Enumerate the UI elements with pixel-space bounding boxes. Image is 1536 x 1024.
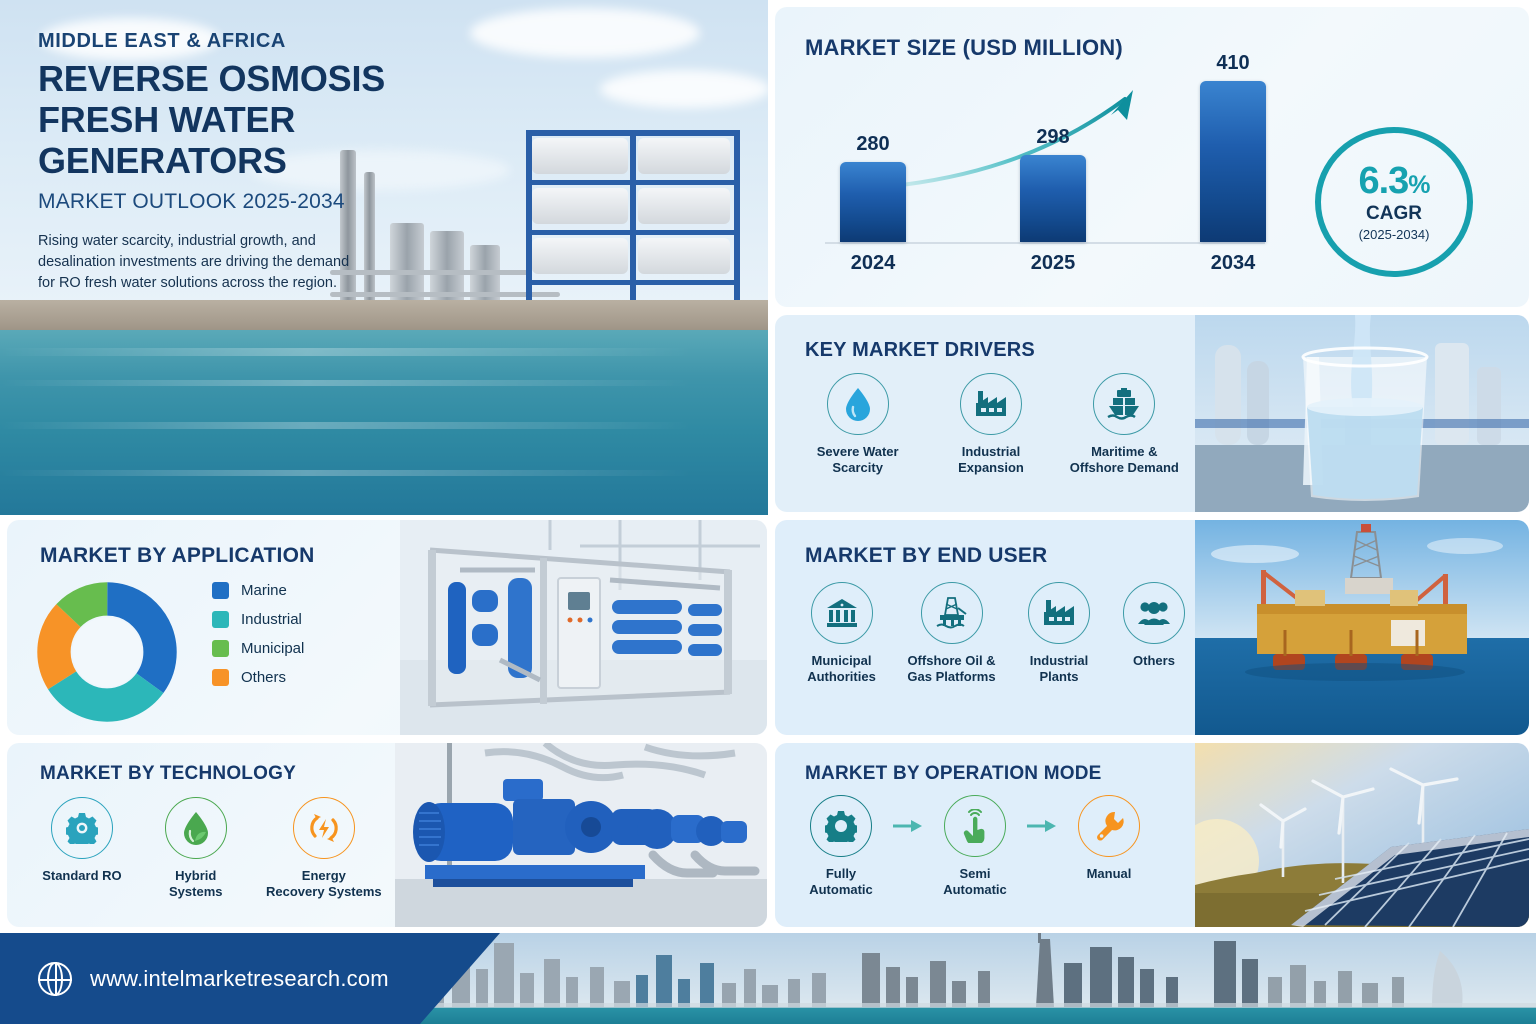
water-drop-icon	[827, 373, 889, 435]
end-user-photo-offshore-rig	[1195, 520, 1529, 735]
drivers-photo-water-glass	[1195, 315, 1529, 512]
technology-item-hybrid-systems[interactable]: HybridSystems	[139, 797, 253, 900]
operation-mode-list: FullyAutomatic SemiAutomatic Manual	[791, 795, 1159, 898]
end-user-item-municipal-authorities[interactable]: MunicipalAuthorities	[792, 582, 892, 685]
bar-year-2025: 2025	[1020, 252, 1086, 275]
end-user-label-line2: Gas Platforms	[907, 669, 995, 684]
factory-icon	[960, 373, 1022, 435]
arrow-right-icon	[1025, 795, 1059, 857]
hero-kicker: MIDDLE EAST & AFRICA	[38, 30, 468, 53]
application-donut-chart	[37, 582, 177, 722]
leaf-drop-icon	[165, 797, 227, 859]
oil-rig-icon	[921, 582, 983, 644]
bar-value-2034: 410	[1200, 52, 1266, 75]
market-by-application-panel: MARKET BY APPLICATION Marine Industrial	[7, 520, 767, 735]
technology-list: Standard RO HybridSystems EnergyRecovery…	[25, 797, 395, 900]
key-market-drivers-panel: KEY MARKET DRIVERS Severe WaterScarcity …	[775, 315, 1529, 512]
market-size-panel: MARKET SIZE (USD MILLION) 280 2024	[775, 7, 1529, 307]
bar-rect-2025	[1020, 155, 1086, 242]
touch-hand-icon	[944, 795, 1006, 857]
bar-2024: 280 2024	[840, 162, 906, 242]
technology-item-energy-recovery[interactable]: EnergyRecovery Systems	[253, 797, 395, 900]
bar-2025: 298 2025	[1020, 155, 1086, 242]
legend-swatch-municipal	[212, 640, 229, 657]
people-group-icon	[1123, 582, 1185, 644]
factory-icon	[1028, 582, 1090, 644]
cagr-value-wrap: 6.3%	[1358, 162, 1429, 200]
bar-value-2025: 298	[1020, 126, 1086, 149]
operation-mode-label-line1: Fully	[826, 866, 856, 881]
operation-mode-item-manual[interactable]: Manual	[1059, 795, 1159, 882]
legend-label-marine: Marine	[241, 582, 287, 599]
legend-label-industrial: Industrial	[241, 611, 302, 628]
driver-label-line1: Maritime &	[1091, 444, 1157, 459]
footer-bar: www.intelmarketresearch.com	[0, 933, 1536, 1024]
market-by-operation-mode-panel: MARKET BY OPERATION MODE FullyAutomatic …	[775, 743, 1529, 927]
legend-swatch-marine	[212, 582, 229, 599]
legend-swatch-industrial	[212, 611, 229, 628]
operation-mode-item-semi-automatic[interactable]: SemiAutomatic	[925, 795, 1025, 898]
driver-item-water-scarcity[interactable]: Severe WaterScarcity	[798, 373, 918, 476]
hero-subtitle: MARKET OUTLOOK 2025-2034	[38, 190, 468, 214]
legend-label-municipal: Municipal	[241, 640, 304, 657]
driver-item-industrial-expansion[interactable]: IndustrialExpansion	[931, 373, 1051, 476]
market-size-title: MARKET SIZE (USD MILLION)	[805, 35, 1123, 61]
legend-item-others[interactable]: Others	[212, 669, 304, 686]
driver-label-line2: Scarcity	[832, 460, 883, 475]
driver-label-line1: Industrial	[962, 444, 1021, 459]
operation-mode-title: MARKET BY OPERATION MODE	[805, 763, 1102, 785]
chart-baseline	[825, 242, 1265, 244]
operation-mode-label-line2: Automatic	[943, 882, 1007, 897]
end-user-title: MARKET BY END USER	[805, 544, 1047, 568]
end-user-label-line1: Municipal	[812, 653, 872, 668]
cagr-value: 6.3	[1358, 160, 1408, 202]
hero-panel: MIDDLE EAST & AFRICA REVERSE OSMOSIS FRE…	[0, 0, 768, 515]
operation-mode-photo-renewables	[1195, 743, 1529, 927]
technology-label-line1: Hybrid	[175, 868, 216, 883]
end-user-label-line2: Plants	[1039, 669, 1078, 684]
bar-rect-2034	[1200, 81, 1266, 242]
cloud-icon	[600, 70, 768, 108]
driver-label-line1: Severe Water	[817, 444, 899, 459]
bar-rect-2024	[840, 162, 906, 242]
cagr-period: (2025-2034)	[1359, 227, 1430, 242]
technology-label-line1: Standard RO	[42, 868, 121, 883]
cagr-percent-symbol: %	[1408, 171, 1429, 199]
hero-title-line1: REVERSE OSMOSIS	[38, 58, 468, 99]
legend-item-marine[interactable]: Marine	[212, 582, 304, 599]
end-user-label-line1: Industrial	[1030, 653, 1089, 668]
operation-mode-label-line1: Semi	[959, 866, 990, 881]
infographic-root: MIDDLE EAST & AFRICA REVERSE OSMOSIS FRE…	[0, 0, 1536, 1024]
legend-item-industrial[interactable]: Industrial	[212, 611, 304, 628]
technology-item-standard-ro[interactable]: Standard RO	[25, 797, 139, 900]
wrench-icon	[1078, 795, 1140, 857]
gear-icon	[51, 797, 113, 859]
technology-title: MARKET BY TECHNOLOGY	[40, 763, 296, 785]
energy-recovery-icon	[293, 797, 355, 859]
footer-url[interactable]: www.intelmarketresearch.com	[90, 966, 389, 992]
application-legend: Marine Industrial Municipal Others	[212, 582, 304, 698]
technology-label-line1: Energy	[302, 868, 346, 883]
key-drivers-title: KEY MARKET DRIVERS	[805, 339, 1035, 362]
technology-label-line2: Recovery Systems	[266, 884, 382, 899]
end-user-item-offshore-oil-gas[interactable]: Offshore Oil &Gas Platforms	[897, 582, 1007, 685]
cloud-icon	[470, 8, 700, 58]
legend-label-others: Others	[241, 669, 286, 686]
market-by-technology-panel: MARKET BY TECHNOLOGY Standard RO HybridS…	[7, 743, 767, 927]
end-user-label-line1: Offshore Oil &	[907, 653, 995, 668]
operation-mode-label-line2: Automatic	[809, 882, 873, 897]
ship-icon	[1093, 373, 1155, 435]
key-drivers-list: Severe WaterScarcity IndustrialExpansion…	[791, 373, 1191, 476]
bank-building-icon	[811, 582, 873, 644]
market-by-end-user-panel: MARKET BY END USER MunicipalAuthorities …	[775, 520, 1529, 735]
legend-item-municipal[interactable]: Municipal	[212, 640, 304, 657]
operation-mode-label-line1: Manual	[1087, 866, 1132, 881]
gear-icon	[810, 795, 872, 857]
legend-swatch-others	[212, 669, 229, 686]
hero-text-block: MIDDLE EAST & AFRICA REVERSE OSMOSIS FRE…	[38, 30, 468, 294]
hero-sea	[0, 330, 768, 515]
hero-description: Rising water scarcity, industrial growth…	[38, 231, 368, 294]
bar-year-2024: 2024	[840, 252, 906, 275]
arrow-right-icon	[891, 795, 925, 857]
end-user-item-industrial-plants[interactable]: IndustrialPlants	[1012, 582, 1107, 685]
application-title: MARKET BY APPLICATION	[40, 544, 314, 568]
hero-title-line2: FRESH WATER GENERATORS	[38, 99, 468, 181]
driver-item-maritime-offshore[interactable]: Maritime &Offshore Demand	[1064, 373, 1184, 476]
driver-label-line2: Offshore Demand	[1070, 460, 1179, 475]
operation-mode-item-fully-automatic[interactable]: FullyAutomatic	[791, 795, 891, 898]
end-user-item-others[interactable]: Others	[1112, 582, 1197, 685]
footer-brand[interactable]: www.intelmarketresearch.com	[38, 933, 389, 1024]
bar-value-2024: 280	[840, 133, 906, 156]
end-user-label-line1: Others	[1133, 653, 1175, 668]
cagr-label: CAGR	[1366, 203, 1422, 225]
market-size-bar-chart: 280 2024 298 2025 410 2034	[815, 77, 1285, 282]
technology-label-line2: Systems	[169, 884, 222, 899]
technology-photo-industrial-pumps	[395, 743, 767, 927]
bar-2034: 410 2034	[1200, 81, 1266, 242]
bar-year-2034: 2034	[1200, 252, 1266, 275]
driver-label-line2: Expansion	[958, 460, 1024, 475]
application-photo-ro-skid	[400, 520, 767, 735]
end-user-label-line2: Authorities	[807, 669, 876, 684]
end-user-list: MunicipalAuthorities Offshore Oil &Gas P…	[789, 582, 1199, 685]
globe-icon	[38, 962, 72, 996]
cagr-badge: 6.3% CAGR (2025-2034)	[1315, 127, 1473, 277]
